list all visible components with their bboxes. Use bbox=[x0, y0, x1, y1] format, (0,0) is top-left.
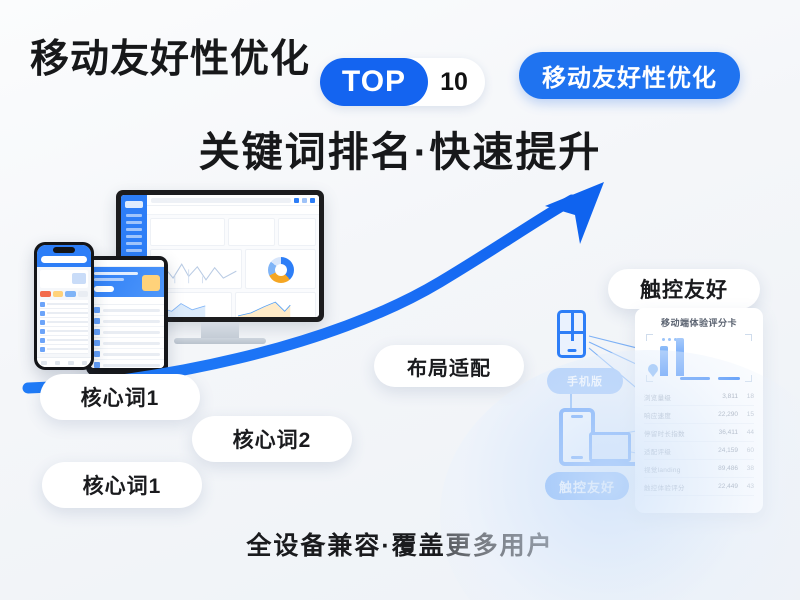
scorecard-row-delta: 44 bbox=[738, 429, 754, 436]
header-tag-pill: 移动友好性优化 bbox=[519, 52, 740, 99]
scorecard-row: 触控体验评分22,44943 bbox=[644, 478, 754, 496]
scorecard-row-name: 视觉landing bbox=[644, 464, 712, 474]
search-input[interactable] bbox=[41, 256, 87, 263]
list-item bbox=[90, 305, 164, 316]
list-item bbox=[90, 338, 164, 349]
scorecard-bar-chart bbox=[646, 334, 752, 382]
dashboard-card-row bbox=[147, 215, 319, 249]
top-label: TOP bbox=[320, 58, 428, 106]
scorecard-row-value: 36,411 bbox=[712, 429, 738, 436]
dashboard-card bbox=[228, 218, 275, 246]
list-item bbox=[90, 349, 164, 360]
diagram-pill-bottom: 触控友好 bbox=[545, 472, 629, 500]
scorecard-row: 浏览量级3,81118 bbox=[644, 388, 754, 406]
keyword-pill-3[interactable]: 核心词1 bbox=[42, 462, 202, 508]
monitor-stand-neck bbox=[201, 322, 239, 338]
bar bbox=[660, 346, 668, 376]
scorecard-row-name: 浏览量级 bbox=[644, 392, 712, 402]
laptop-icon bbox=[589, 432, 631, 462]
small-phone-icon bbox=[557, 310, 586, 358]
phone-notch bbox=[53, 247, 75, 253]
laptop-base-icon bbox=[583, 462, 637, 466]
touch-friendly-pill[interactable]: 触控友好 bbox=[608, 269, 760, 309]
scorecard-row-delta: 43 bbox=[738, 483, 754, 490]
list-item bbox=[40, 336, 88, 345]
list-item bbox=[40, 309, 88, 318]
scorecard-row: 停留时长指数36,41144 bbox=[644, 424, 754, 442]
scorecard-row-delta: 60 bbox=[738, 447, 754, 454]
scorecard-row-value: 24,159 bbox=[712, 447, 738, 454]
dashboard-donut-chart bbox=[245, 249, 316, 289]
scorecard-row-delta: 15 bbox=[738, 411, 754, 418]
scorecard-row-name: 适配评级 bbox=[644, 446, 712, 456]
dashboard-wave-chart bbox=[235, 292, 317, 317]
dashboard-chart-row-2 bbox=[147, 289, 319, 317]
scorecard-row-value: 89,486 bbox=[712, 465, 738, 472]
bar-group bbox=[660, 336, 742, 376]
device-mockup-group bbox=[18, 190, 338, 370]
donut-chart-icon bbox=[268, 257, 294, 283]
bar bbox=[676, 338, 684, 376]
dashboard-filterbar bbox=[147, 206, 319, 215]
scorecard-rows: 浏览量级3,81118响应速度22,29015停留时长指数36,41144适配评… bbox=[644, 388, 754, 496]
mobile-scorecard: 移动端体验评分卡 浏览量级3,81118响应速度22,29015停留时长指数36… bbox=[635, 308, 763, 513]
scorecard-row-name: 停留时长指数 bbox=[644, 428, 712, 438]
scorecard-row-name: 触控体验评分 bbox=[644, 482, 712, 492]
phone-mockup bbox=[34, 242, 94, 370]
top-rank-badge: TOP 10 bbox=[320, 58, 485, 106]
list-item bbox=[40, 318, 88, 327]
phone-tabbar bbox=[37, 357, 91, 367]
keyword-pill-1[interactable]: 核心词1 bbox=[40, 374, 200, 420]
scorecard-row: 响应速度22,29015 bbox=[644, 406, 754, 424]
poster-canvas: 移动友好性优化 TOP 10 移动友好性优化 关键词排名·快速提升 bbox=[0, 0, 800, 600]
list-item bbox=[90, 327, 164, 338]
list-item bbox=[90, 360, 164, 368]
keyword-pill-2[interactable]: 核心词2 bbox=[192, 416, 352, 462]
tablet-hero-banner bbox=[90, 267, 164, 297]
wave-chart-icon bbox=[238, 299, 294, 317]
footer-caption: 全设备兼容·覆盖更多用户 bbox=[0, 526, 800, 562]
tablet-screen bbox=[90, 260, 164, 368]
scorecard-row: 视觉landing89,48638 bbox=[644, 460, 754, 478]
list-item bbox=[40, 327, 88, 336]
phone-promo-card bbox=[40, 270, 88, 288]
scorecard-row: 适配评级24,15960 bbox=[644, 442, 754, 460]
monitor-stand-base bbox=[174, 338, 266, 344]
dashboard-card bbox=[278, 218, 316, 246]
list-item bbox=[40, 300, 88, 309]
phone-screen bbox=[37, 245, 91, 367]
scorecard-row-delta: 38 bbox=[738, 465, 754, 472]
diagram-pill-top: 手机版 bbox=[547, 368, 623, 394]
scorecard-row-delta: 18 bbox=[738, 393, 754, 400]
page-subtitle: 关键词排名·快速提升 bbox=[0, 118, 800, 178]
scorecard-row-name: 响应速度 bbox=[644, 410, 712, 420]
scorecard-row-value: 22,290 bbox=[712, 411, 738, 418]
dashboard-card bbox=[150, 218, 225, 246]
scorecard-title: 移动端体验评分卡 bbox=[644, 316, 754, 329]
list-item bbox=[40, 345, 88, 354]
dashboard-chart-row bbox=[147, 249, 319, 289]
phone-category-chips bbox=[37, 288, 91, 300]
top-number: 10 bbox=[432, 60, 476, 104]
scorecard-row-value: 22,449 bbox=[712, 483, 738, 490]
scorecard-row-value: 3,811 bbox=[712, 393, 738, 400]
dashboard-main bbox=[147, 195, 319, 317]
dashboard-topbar bbox=[147, 195, 319, 206]
page-title: 移动友好性优化 bbox=[30, 28, 310, 84]
map-pin-icon bbox=[648, 364, 658, 374]
list-item bbox=[90, 316, 164, 327]
layout-fit-pill[interactable]: 布局适配 bbox=[374, 345, 524, 387]
tablet-mockup bbox=[86, 256, 168, 376]
